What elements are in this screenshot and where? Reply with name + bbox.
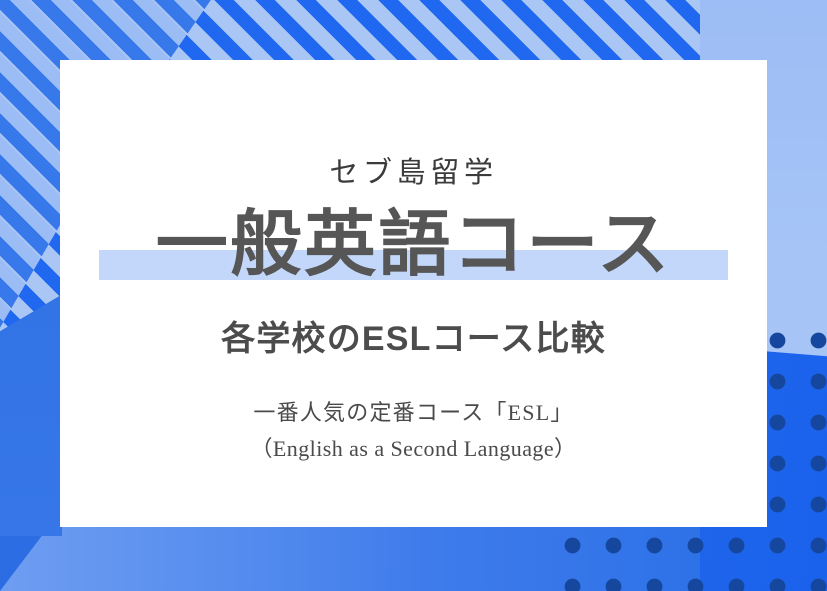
subtitle-text: 各学校のESLコース比較 <box>221 311 606 360</box>
lead-paragraph: 一番人気の定番コース「ESL」 （English as a Second Lan… <box>250 395 576 466</box>
lead-line-1: 一番人気の定番コース「ESL」 <box>250 395 576 431</box>
card-inner: セブ島留学 一般英語コース 各学校のESLコース比較 一番人気の定番コース「ES… <box>60 60 767 527</box>
page-title: 一般英語コース <box>156 209 672 284</box>
eyebrow-text: セブ島留学 <box>329 149 497 191</box>
content-card: セブ島留学 一般英語コース 各学校のESLコース比較 一番人気の定番コース「ES… <box>60 60 767 527</box>
lead-line-2: （English as a Second Language） <box>250 431 576 467</box>
title-block: 一般英語コース <box>60 209 767 284</box>
poster-canvas: セブ島留学 一般英語コース 各学校のESLコース比較 一番人気の定番コース「ES… <box>0 0 827 591</box>
